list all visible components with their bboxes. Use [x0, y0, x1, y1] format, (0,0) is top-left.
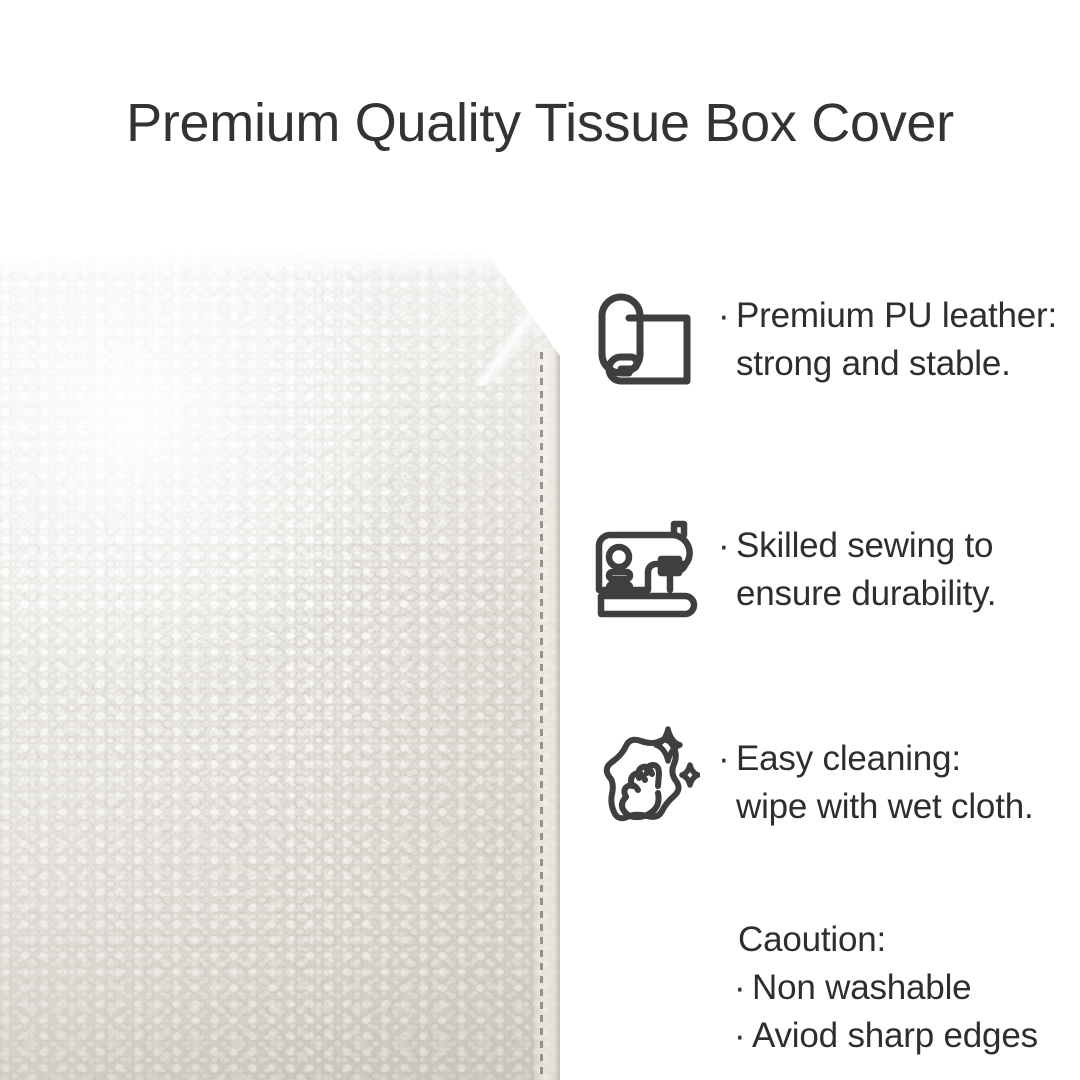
product-infographic: Premium Quality Tissue Box Cover: [0, 0, 1080, 1080]
feature-item-easy-cleaning: ·Easy cleaning: wipe with wet cloth.: [588, 723, 1034, 835]
feature-line-1: Premium PU leather:: [736, 296, 1057, 335]
leather-roll-icon: [588, 280, 700, 392]
sewing-machine-icon: [588, 510, 700, 622]
feature-line-1: Easy cleaning:: [736, 739, 961, 778]
feature-item-skilled-sewing: ·Skilled sewing to ensure durability.: [588, 510, 996, 622]
page-title: Premium Quality Tissue Box Cover: [0, 92, 1080, 154]
feature-bullet: ·: [718, 292, 736, 340]
caution-item-label: Aviod sharp edges: [752, 1016, 1038, 1055]
caution-item-label: Non washable: [752, 968, 971, 1007]
feature-item-premium-pu-leather: ·Premium PU leather: strong and stable.: [588, 280, 1057, 392]
seam-shadow: [554, 348, 560, 1080]
cleaning-cloth-sparkle-icon: [588, 723, 700, 835]
caution-item-non-washable: ·Non washable: [734, 964, 1038, 1012]
caution-item-avoid-sharp-edges: ·Aviod sharp edges: [734, 1012, 1038, 1060]
feature-text-premium-pu-leather: ·Premium PU leather: strong and stable.: [700, 280, 1057, 388]
product-photo-leather-panel: [0, 252, 560, 1080]
feature-bullet: ·: [718, 735, 736, 783]
caution-block: Caoution: ·Non washable ·Aviod sharp edg…: [734, 916, 1038, 1060]
feature-line-2: wipe with wet cloth.: [718, 783, 1034, 831]
feature-line-2: strong and stable.: [718, 340, 1057, 388]
caution-heading: Caoution:: [734, 916, 1038, 964]
feature-bullet: ·: [718, 522, 736, 570]
feature-text-easy-cleaning: ·Easy cleaning: wipe with wet cloth.: [700, 723, 1034, 831]
caution-bullet: ·: [734, 1012, 752, 1060]
feature-line-1: Skilled sewing to: [736, 526, 993, 565]
feature-text-skilled-sewing: ·Skilled sewing to ensure durability.: [700, 510, 996, 618]
caution-bullet: ·: [734, 964, 752, 1012]
feature-line-2: ensure durability.: [718, 570, 996, 618]
stitch-line: [540, 352, 543, 1080]
